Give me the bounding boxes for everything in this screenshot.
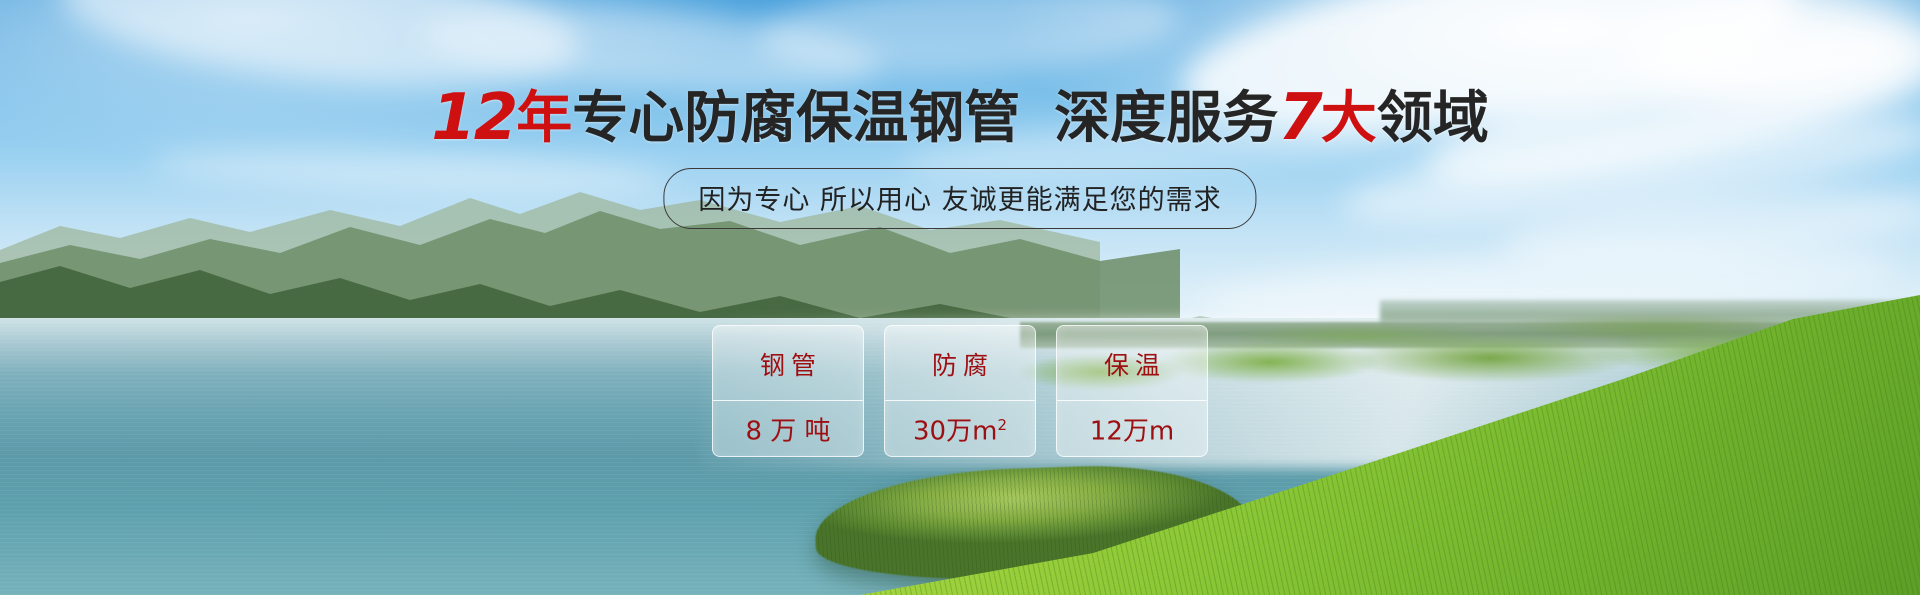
stat-card-value: 8 万 吨 [745,418,830,445]
headline-fields-unit: 大 [1321,86,1377,151]
promo-banner: 12年专心防腐保温钢管深度服务7大领域 因为专心 所以用心 友诚更能满足您的需求… [0,0,1920,595]
stat-card-anticorrosion[interactable]: 防腐 30万m2 [884,325,1036,457]
stat-card-insulation[interactable]: 保温 12万m [1056,325,1208,457]
stat-card-group: 钢管 8 万 吨 防腐 30万m2 保温 12万m [712,325,1208,457]
headline-years-number: 12 [431,81,516,155]
stat-card-title: 钢管 [754,353,822,378]
stat-card-value-base: 30万m [913,417,997,447]
stat-card-value-sup: 2 [997,416,1007,434]
stat-card-value: 30万m2 [913,418,1007,445]
headline-fields-tail: 领域 [1377,86,1489,151]
banner-headline: 12年专心防腐保温钢管深度服务7大领域 [0,86,1920,150]
stat-card-value-base: 12万m [1090,417,1174,447]
stat-card-title: 保温 [1098,353,1166,378]
headline-main-text: 专心防腐保温钢管 [572,86,1020,151]
stat-card-value-base: 8 万 吨 [745,417,830,447]
headline-fields-number: 7 [1278,81,1321,155]
stat-card-divider [1057,400,1207,401]
headline-years-unit: 年 [516,86,572,151]
headline-service-text: 深度服务 [1054,86,1278,151]
stat-card-divider [885,400,1035,401]
stat-card-value: 12万m [1090,418,1174,445]
stat-card-steel-pipe[interactable]: 钢管 8 万 吨 [712,325,864,457]
stat-card-divider [713,400,863,401]
stat-card-title: 防腐 [926,353,994,378]
banner-subtitle-pill: 因为专心 所以用心 友诚更能满足您的需求 [663,168,1256,229]
